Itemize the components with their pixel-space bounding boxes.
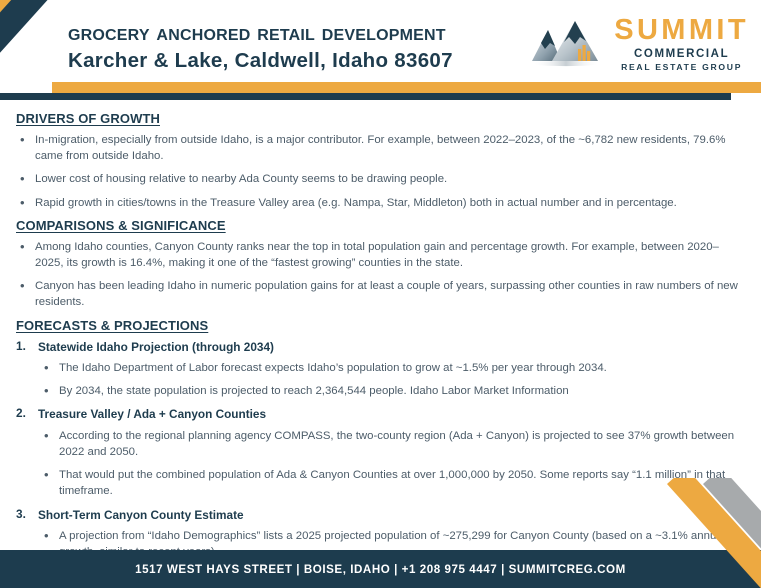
sub-bullet-item: The Idaho Department of Labor forecast e… — [42, 360, 745, 376]
section-heading: COMPARISONS & SIGNIFICANCE — [16, 218, 745, 233]
numbered-item: Statewide Idaho Projection (through 2034… — [16, 339, 745, 400]
section-heading: DRIVERS OF GROWTH — [16, 111, 745, 126]
bullet-item: Among Idaho counties, Canyon County rank… — [18, 239, 745, 271]
header-gold-rule — [52, 82, 761, 93]
page-title: Grocery Anchored Retail Development — [68, 19, 588, 45]
numbered-item: Treasure Valley / Ada + Canyon CountiesA… — [16, 406, 745, 499]
page-subtitle: Karcher & Lake, Caldwell, Idaho 83607 — [68, 50, 588, 73]
logo-wordmark: SUMMIT COMMERCIAL REAL ESTATE GROUP — [614, 16, 749, 72]
forecasts-container: FORECASTS & PROJECTIONSStatewide Idaho P… — [16, 318, 745, 584]
bullet-list: In-migration, especially from outside Id… — [18, 132, 745, 211]
navy-diagonal-stripe — [0, 0, 78, 94]
sub-bullet-item: According to the regional planning agenc… — [42, 428, 745, 460]
bullet-item: In-migration, especially from outside Id… — [18, 132, 745, 164]
gold-diagonal-stripe — [0, 0, 41, 94]
page-footer: 1517 WEST HAYS STREET | BOISE, IDAHO | +… — [0, 550, 761, 588]
content-area: DRIVERS OF GROWTHIn-migration, especiall… — [0, 100, 761, 584]
logo-summit-text: SUMMIT — [614, 16, 749, 45]
header-title-block: Grocery Anchored Retail Development Karc… — [68, 19, 588, 73]
sections-container: DRIVERS OF GROWTHIn-migration, especiall… — [16, 111, 745, 311]
bullet-item: Rapid growth in cities/towns in the Trea… — [18, 195, 745, 211]
sub-bullet-list: According to the regional planning agenc… — [38, 428, 745, 500]
sub-bullet-item: That would put the combined population o… — [42, 467, 745, 499]
logo-real-estate-group-text: REAL ESTATE GROUP — [621, 63, 742, 72]
header-navy-rule — [0, 93, 731, 100]
mountain-peaks-logo-icon — [528, 13, 606, 75]
bullet-list: Among Idaho counties, Canyon County rank… — [18, 239, 745, 311]
logo-commercial-text: COMMERCIAL — [634, 49, 729, 61]
bullet-item: Canyon has been leading Idaho in numeric… — [18, 278, 745, 310]
company-logo: SUMMIT COMMERCIAL REAL ESTATE GROUP — [528, 12, 749, 76]
numbered-item-title: Short-Term Canyon County Estimate — [38, 507, 745, 524]
flyer-page: Grocery Anchored Retail Development Karc… — [0, 0, 761, 588]
sub-bullet-list: The Idaho Department of Labor forecast e… — [38, 360, 745, 399]
numbered-list: Statewide Idaho Projection (through 2034… — [16, 339, 745, 584]
section-heading: FORECASTS & PROJECTIONS — [16, 318, 745, 333]
footer-contact-text: 1517 WEST HAYS STREET | BOISE, IDAHO | +… — [135, 563, 626, 576]
numbered-item-title: Treasure Valley / Ada + Canyon Counties — [38, 406, 745, 423]
sub-bullet-item: By 2034, the state population is project… — [42, 383, 745, 399]
bullet-item: Lower cost of housing relative to nearby… — [18, 171, 745, 187]
page-header: Grocery Anchored Retail Development Karc… — [0, 0, 761, 100]
numbered-item-title: Statewide Idaho Projection (through 2034… — [38, 339, 745, 356]
